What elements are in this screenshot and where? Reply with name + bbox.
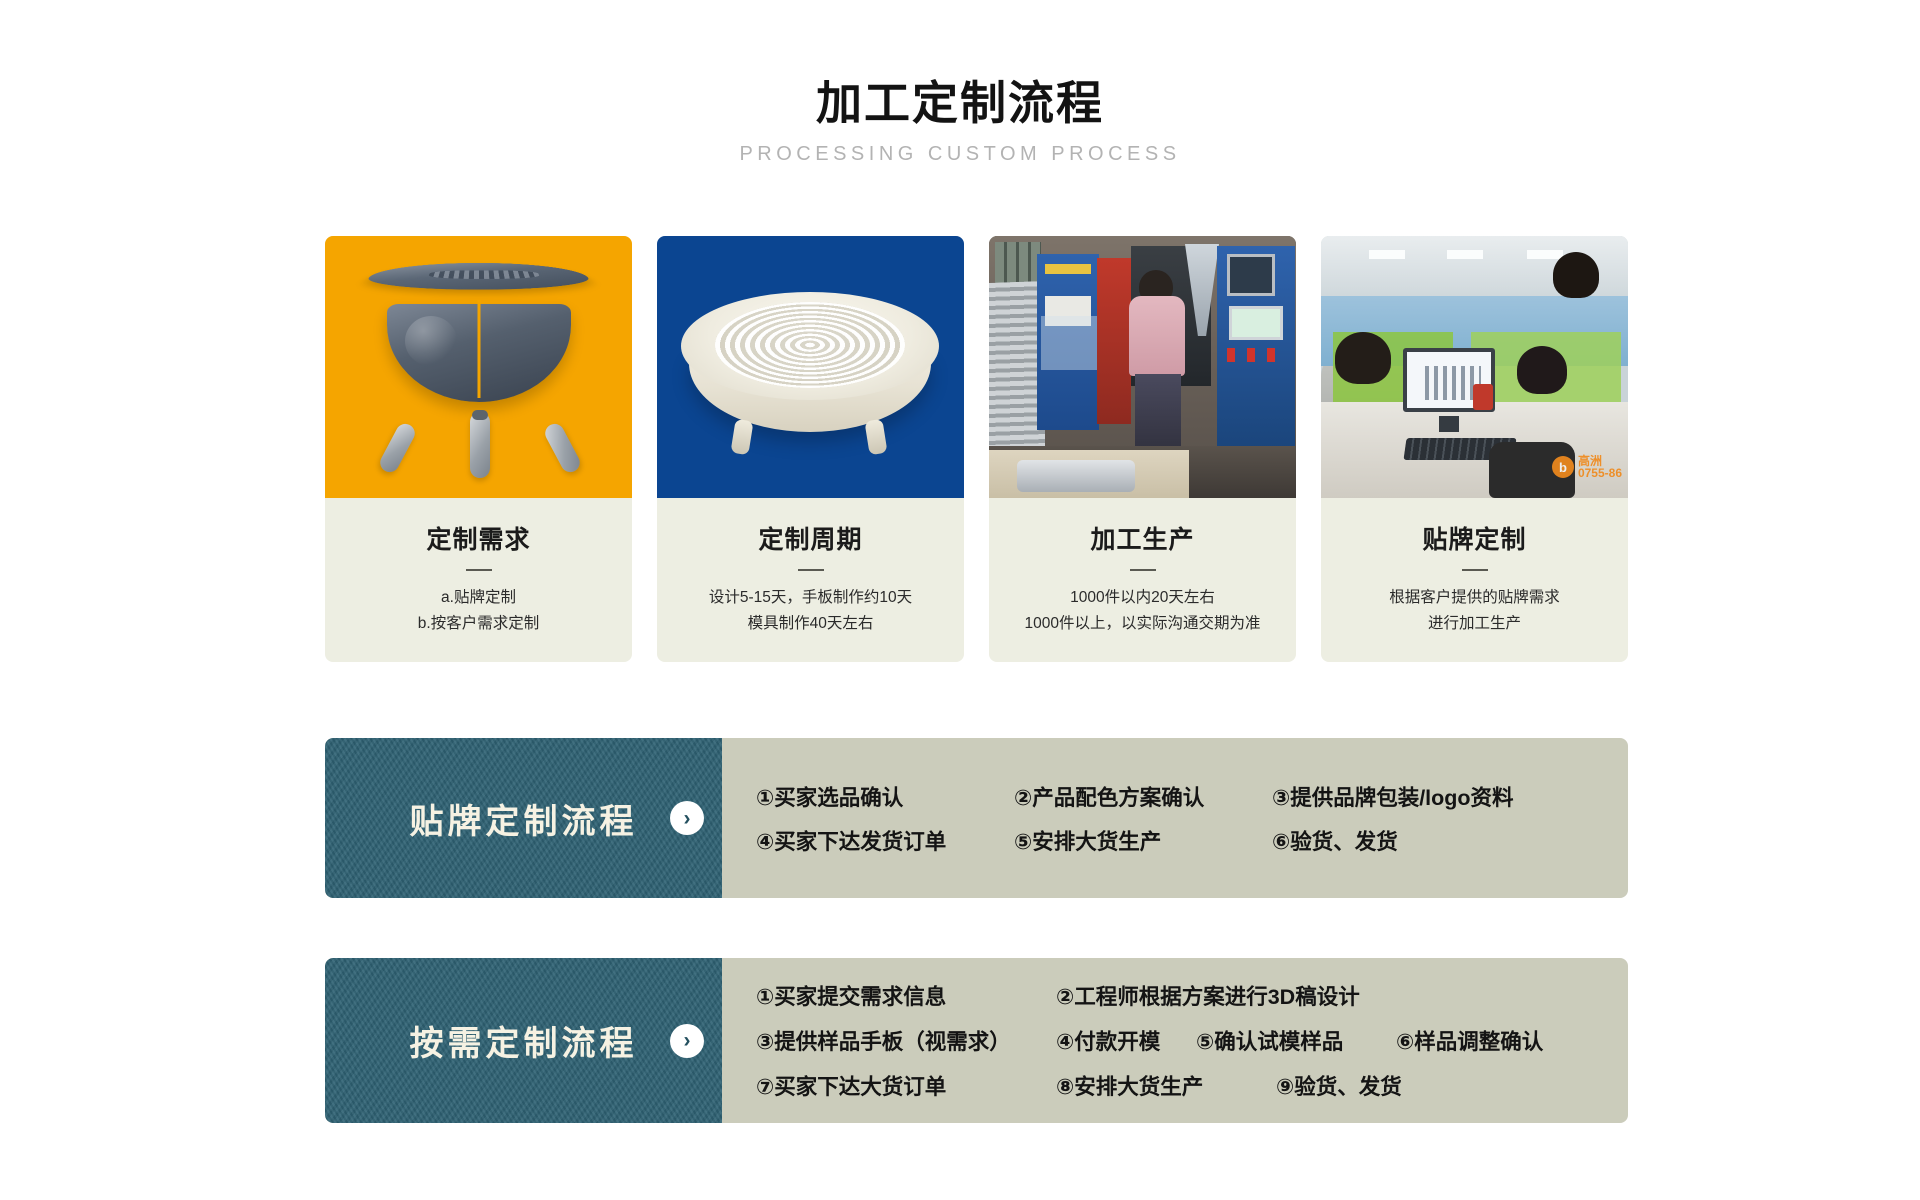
card-title: 定制周期 [669,520,952,556]
card-desc-line-2: 进行加工生产 [1333,611,1616,637]
tray-foot-right [864,419,887,455]
process-card[interactable]: 加工生产 1000件以内20天左右 1000件以上，以实际沟通交期为准 [989,236,1296,662]
ondemand-process-banner: 按需定制流程 › ①买家提交需求信息 ②工程师根据方案进行3D稿设计 ③提供样品… [325,958,1628,1123]
step-item: ③提供样品手板（视需求） [756,1025,1056,1056]
banner-step-list: ①买家提交需求信息 ②工程师根据方案进行3D稿设计 ③提供样品手板（视需求） ④… [722,958,1628,1123]
card-body: 贴牌定制 根据客户提供的贴牌需求 进行加工生产 [1321,498,1628,662]
banner-step-list: ①买家选品确认 ②产品配色方案确认 ③提供品牌包装/logo资料 ④买家下达发货… [722,738,1628,898]
card-body: 加工生产 1000件以内20天左右 1000件以上，以实际沟通交期为准 [989,498,1296,662]
molded-part [1017,460,1135,492]
tray-foot-left [730,419,753,455]
ceiling-light [1369,250,1405,259]
product-lid-shape [360,263,598,290]
banner-label: 贴牌定制流程 [410,794,638,843]
card-body: 定制周期 设计5-15天，手板制作约10天 模具制作40天左右 [657,498,964,662]
process-card[interactable]: 定制需求 a.贴牌定制 b.按客户需求定制 [325,236,632,662]
card-desc-line-1: 设计5-15天，手板制作约10天 [669,585,952,611]
step-item: ⑤确认试模样品 [1196,1025,1396,1056]
step-item: ⑤安排大货生产 [1014,825,1272,856]
page-title: 加工定制流程 [0,78,1920,129]
process-card[interactable]: 定制周期 设计5-15天，手板制作约10天 模具制作40天左右 [657,236,964,662]
chevron-right-icon[interactable]: › [670,1024,704,1058]
title-divider [1462,569,1488,571]
monitor-stand [1439,416,1459,432]
ceiling-light [1527,250,1563,259]
step-item: ②产品配色方案确认 [1014,781,1272,812]
step-row: ①买家选品确认 ②产品配色方案确认 ③提供品牌包装/logo资料 [756,774,1628,818]
step-item: ⑦买家下达大货订单 [756,1070,1056,1101]
card-desc-line-1: 1000件以内20天左右 [1001,585,1284,611]
worker-trousers [1135,374,1181,450]
step-item: ②工程师根据方案进行3D稿设计 [1056,980,1360,1011]
banner-label-panel: 贴牌定制流程 › [325,738,722,898]
step-item: ①买家提交需求信息 [756,980,1056,1011]
oem-process-banner: 贴牌定制流程 › ①买家选品确认 ②产品配色方案确认 ③提供品牌包装/logo资… [325,738,1628,898]
product-leg-right [542,421,583,476]
title-divider [466,569,492,571]
card-title: 贴牌定制 [1333,520,1616,556]
product-bowl-shape [387,304,571,402]
step-item: ①买家选品确认 [756,781,1014,812]
card-media-factory [989,236,1296,498]
worker-shirt [1129,296,1185,376]
engineer-head-right [1517,346,1567,394]
page-subtitle: PROCESSING CUSTOM PROCESS [0,143,1920,166]
tray-product [681,292,939,440]
product-leg-center [470,412,490,478]
panel-screen-lower [1229,306,1283,340]
step-item: ④付款开模 [1056,1025,1196,1056]
card-media-spiral-tray [657,236,964,498]
card-desc-line-1: 根据客户提供的贴牌需求 [1333,585,1616,611]
card-media-exploded-parts [325,236,632,498]
watermark-logo-icon: b [1552,456,1574,478]
card-desc-line-2: 模具制作40天左右 [669,611,952,637]
step-item: ③提供品牌包装/logo资料 [1272,781,1514,812]
watermark-text: 高洲 0755-86 [1578,455,1622,480]
tray-top [681,292,939,400]
logo-watermark: b 高洲 0755-86 [1552,455,1622,480]
step-item: ⑨验货、发货 [1276,1070,1402,1101]
red-machine-column [1097,258,1131,424]
card-title: 加工生产 [1001,520,1284,556]
title-divider [1130,569,1156,571]
tray-spiral-pattern [715,302,905,388]
page-header: 加工定制流程 PROCESSING CUSTOM PROCESS [0,0,1920,166]
product-leg-left [377,421,418,476]
cabinet-glass [1041,316,1097,370]
process-card-row: 定制需求 a.贴牌定制 b.按客户需求定制 定制周期 [325,236,1628,662]
step-row: ①买家提交需求信息 ②工程师根据方案进行3D稿设计 [756,973,1628,1018]
step-row: ⑦买家下达大货订单 ⑧安排大货生产 ⑨验货、发货 [756,1063,1628,1108]
card-media-office: b 高洲 0755-86 [1321,236,1628,498]
chevron-right-icon[interactable]: › [670,801,704,835]
title-divider [798,569,824,571]
step-row: ④买家下达发货订单 ⑤安排大货生产 ⑥验货、发货 [756,818,1628,862]
banner-label-panel: 按需定制流程 › [325,958,722,1123]
step-item: ④买家下达发货订单 [756,825,1014,856]
ceiling-light [1447,250,1483,259]
processing-custom-process-page: 加工定制流程 PROCESSING CUSTOM PROCESS 定制需求 a.… [0,0,1920,1200]
panel-screen-upper [1227,254,1275,296]
pen-cup [1473,384,1493,410]
engineer-head-standing [1553,252,1599,298]
watermark-line-2: 0755-86 [1578,467,1622,480]
card-body: 定制需求 a.贴牌定制 b.按客户需求定制 [325,498,632,662]
card-desc-line-2: b.按客户需求定制 [337,611,620,637]
card-desc-line-1: a.贴牌定制 [337,585,620,611]
engineer-head-left [1335,332,1391,384]
banner-label: 按需定制流程 [410,1016,638,1065]
step-item: ⑥验货、发货 [1272,825,1398,856]
process-card[interactable]: b 高洲 0755-86 贴牌定制 根据客户提供的贴牌需求 进行加工生产 [1321,236,1628,662]
panel-buttons [1227,348,1287,362]
card-title: 定制需求 [337,520,620,556]
step-item: ⑥样品调整确认 [1396,1025,1543,1056]
card-desc-line-2: 1000件以上，以实际沟通交期为准 [1001,611,1284,637]
step-item: ⑧安排大货生产 [1056,1070,1276,1101]
step-row: ③提供样品手板（视需求） ④付款开模 ⑤确认试模样品 ⑥样品调整确认 [756,1018,1628,1063]
